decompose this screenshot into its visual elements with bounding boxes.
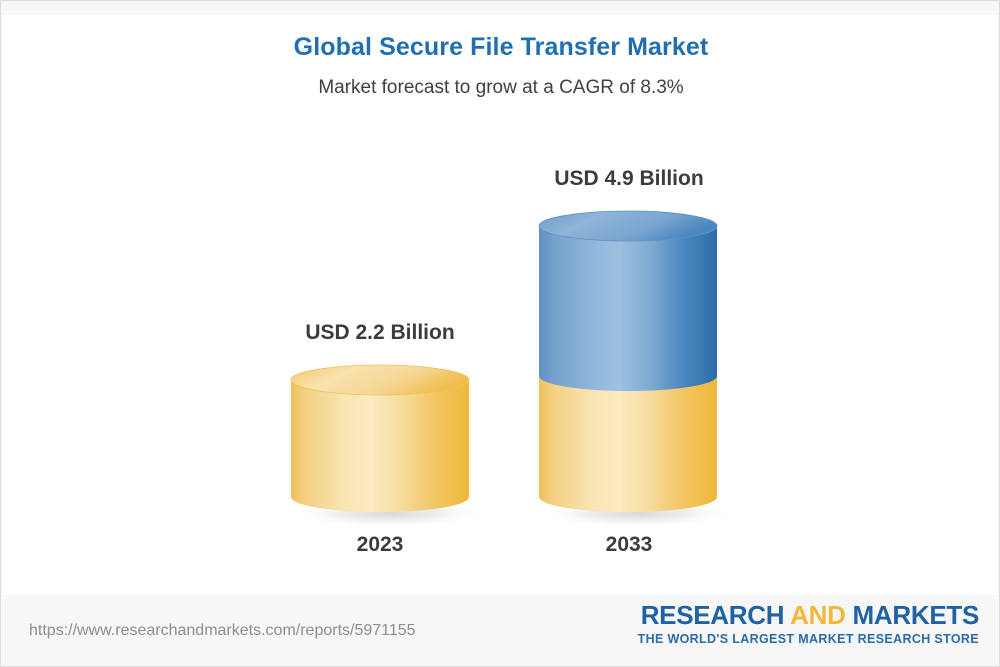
chart-subtitle: Market forecast to grow at a CAGR of 8.3… [1, 74, 1000, 102]
bar-2033-body [539, 226, 717, 391]
chart-canvas [2, 15, 998, 595]
bar-2033-base-segment [539, 376, 717, 512]
brand-logo: RESEARCH AND MARKETS THE WORLD'S LARGEST… [638, 601, 979, 647]
infographic-chart: Global Secure File Transfer Market Marke… [0, 0, 1000, 667]
brand-tagline: THE WORLD'S LARGEST MARKET RESEARCH STOR… [638, 631, 979, 647]
chart-title: Global Secure File Transfer Market [1, 31, 1000, 63]
category-label-2033: 2033 [539, 533, 719, 557]
bar-2023-top-cap [291, 365, 469, 395]
category-label-2023: 2023 [291, 533, 469, 557]
bar-cylinder-2033-svg [531, 203, 731, 529]
bar-cylinder-2023-svg [283, 357, 483, 529]
bar-cylinder-2033 [531, 203, 731, 529]
chart-header: Global Secure File Transfer Market Marke… [1, 31, 1000, 102]
bar-2033-top-cap [539, 211, 717, 241]
brand-name-part1: RESEARCH [641, 600, 790, 630]
report-url[interactable]: https://www.researchandmarkets.com/repor… [29, 622, 416, 640]
bar-value-label-2033: USD 4.9 Billion [539, 167, 719, 191]
bar-cylinder-2023 [283, 357, 483, 529]
bar-value-label-2023: USD 2.2 Billion [291, 321, 469, 345]
bar-2023-body [291, 380, 469, 512]
brand-name-and: AND [790, 600, 845, 630]
brand-name-part2: MARKETS [846, 600, 979, 630]
brand-name: RESEARCH AND MARKETS [638, 601, 979, 629]
